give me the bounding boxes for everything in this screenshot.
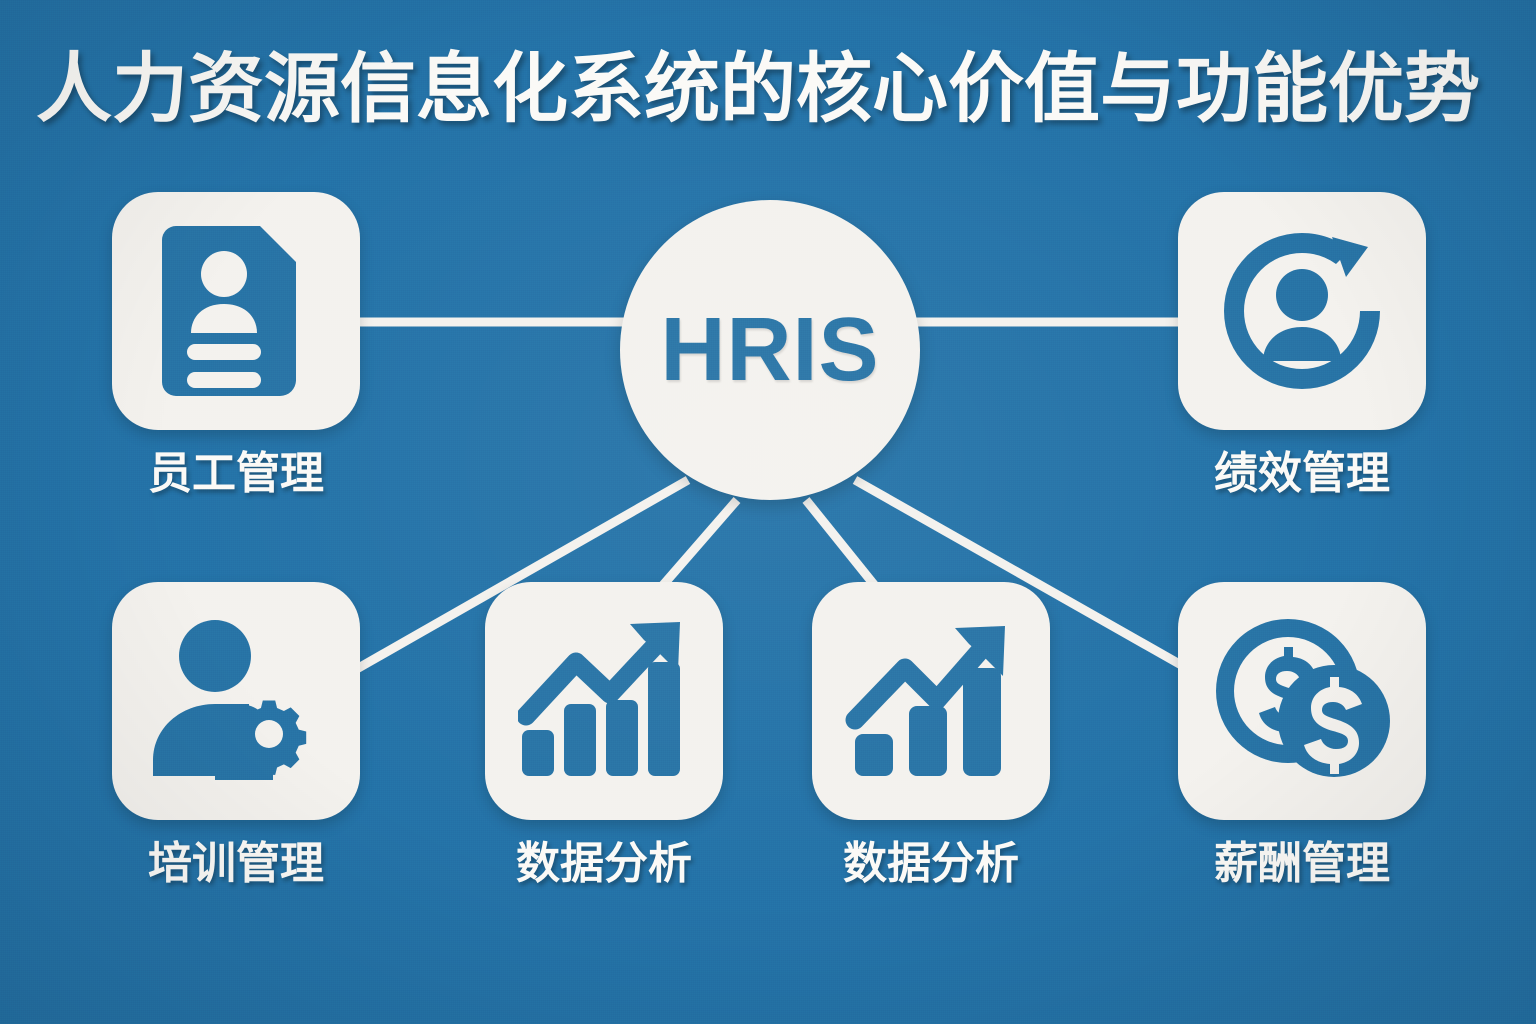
connector-hub-analytics-1 bbox=[657, 500, 737, 592]
node-analytics-2-label: 数据分析 bbox=[843, 838, 1019, 890]
person-cycle-arrow-icon bbox=[1214, 223, 1390, 399]
node-performance-label: 绩效管理 bbox=[1214, 448, 1390, 500]
bar-chart-up-arrow-icon bbox=[845, 618, 1017, 784]
dollar-coins-icon bbox=[1212, 615, 1392, 787]
node-analytics-1-tile[interactable] bbox=[485, 582, 723, 820]
hub-label: HRIS bbox=[660, 305, 879, 395]
connector-hub-analytics-2 bbox=[806, 500, 880, 592]
infographic-canvas: 人力资源信息化系统的核心价值与功能优势 HRIS 员工管理 bbox=[0, 0, 1536, 1024]
node-training[interactable]: 培训管理 bbox=[112, 582, 360, 890]
hub-node[interactable]: HRIS bbox=[620, 200, 920, 500]
node-training-label: 培训管理 bbox=[148, 838, 324, 890]
node-employee-label: 员工管理 bbox=[148, 448, 324, 500]
node-analytics-2[interactable]: 数据分析 bbox=[812, 582, 1050, 890]
person-gear-icon bbox=[147, 616, 325, 786]
bar-chart-up-arrow-icon bbox=[518, 618, 690, 784]
node-training-tile[interactable] bbox=[112, 582, 360, 820]
node-employee-tile[interactable] bbox=[112, 192, 360, 430]
node-payroll[interactable]: 薪酬管理 bbox=[1178, 582, 1426, 890]
id-document-person-icon bbox=[162, 226, 310, 396]
node-analytics-1[interactable]: 数据分析 bbox=[485, 582, 723, 890]
node-performance-tile[interactable] bbox=[1178, 192, 1426, 430]
node-performance[interactable]: 绩效管理 bbox=[1178, 192, 1426, 500]
node-payroll-label: 薪酬管理 bbox=[1214, 838, 1390, 890]
node-employee[interactable]: 员工管理 bbox=[112, 192, 360, 500]
node-analytics-1-label: 数据分析 bbox=[516, 838, 692, 890]
node-payroll-tile[interactable] bbox=[1178, 582, 1426, 820]
node-analytics-2-tile[interactable] bbox=[812, 582, 1050, 820]
